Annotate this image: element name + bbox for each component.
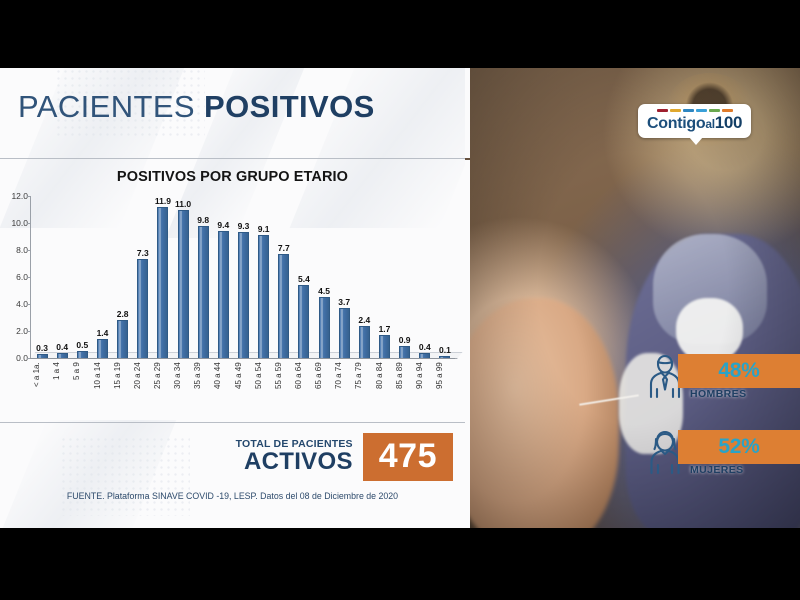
chart-x-tick-label: 5 a 9 bbox=[72, 362, 92, 412]
chart-y-tick-label: 12.0 bbox=[11, 191, 28, 201]
chart-bar-group: 0.1 bbox=[435, 196, 455, 358]
chart-x-tick-label: 70 a 74 bbox=[334, 362, 354, 412]
logo-dash-3 bbox=[696, 109, 707, 112]
chart-bar-group: 4.5 bbox=[314, 196, 334, 358]
chart-bar bbox=[137, 259, 148, 358]
chart-bar-value-label: 7.3 bbox=[137, 248, 149, 258]
chart-x-tick-label: 30 a 34 bbox=[173, 362, 193, 412]
chart-bar-group: 0.4 bbox=[52, 196, 72, 358]
chart-y-tick-mark bbox=[27, 277, 30, 278]
logo-text: Contigoal100 bbox=[647, 114, 742, 132]
chart-x-tick-label: 35 a 39 bbox=[193, 362, 213, 412]
chart-bar-group: 9.8 bbox=[193, 196, 213, 358]
chart-bar-group: 3.7 bbox=[334, 196, 354, 358]
chart-x-tick-label: 80 a 84 bbox=[375, 362, 395, 412]
chart-bar-value-label: 9.1 bbox=[258, 224, 270, 234]
logo-dash-4 bbox=[709, 109, 720, 112]
stat-bar-mujeres: 52% bbox=[678, 430, 800, 464]
chart-bar-group: 0.5 bbox=[72, 196, 92, 358]
chart-bar-group: 0.3 bbox=[32, 196, 52, 358]
chart-x-tick-label: 50 a 54 bbox=[254, 362, 274, 412]
chart-bar-value-label: 0.9 bbox=[399, 335, 411, 345]
chart-bar bbox=[379, 335, 390, 358]
total-activos-label-line2: ACTIVOS bbox=[236, 450, 353, 474]
slide-content: PACIENTES POSITIVOS POSITIVOS POR GRUPO … bbox=[0, 68, 800, 528]
panel-edge bbox=[465, 68, 470, 158]
stat-row-hombres: 48% HOMBRES bbox=[648, 354, 800, 402]
chart-y-tick-mark bbox=[27, 223, 30, 224]
chart-bar bbox=[198, 226, 209, 358]
chart-title: POSITIVOS POR GRUPO ETARIO bbox=[0, 169, 465, 185]
chart-bar bbox=[117, 320, 128, 358]
chart-bar-value-label: 0.3 bbox=[36, 343, 48, 353]
chart-bars: 0.30.40.51.42.87.311.911.09.89.49.39.17.… bbox=[32, 196, 455, 358]
chart-y-tick-mark bbox=[27, 196, 30, 197]
chart-bar-group: 11.0 bbox=[173, 196, 193, 358]
chart-x-axis bbox=[30, 358, 455, 359]
contigo-al-100-logo: Contigoal100 bbox=[638, 104, 751, 138]
chart-x-tick-label: 95 a 99 bbox=[435, 362, 455, 412]
chart-bar-value-label: 5.4 bbox=[298, 274, 310, 284]
chart-bar-group: 11.9 bbox=[153, 196, 173, 358]
chart-bar-group: 7.3 bbox=[133, 196, 153, 358]
page-title-bold: POSITIVOS bbox=[204, 89, 375, 124]
chart-bar bbox=[178, 210, 189, 359]
chart-bar-value-label: 3.7 bbox=[338, 297, 350, 307]
chart-bar bbox=[399, 346, 410, 358]
chart-bar bbox=[37, 354, 48, 358]
chart-bar-value-label: 4.5 bbox=[318, 286, 330, 296]
chart-bar-group: 9.3 bbox=[234, 196, 254, 358]
chart-bar bbox=[238, 232, 249, 358]
chart-bar-value-label: 0.4 bbox=[56, 342, 68, 352]
stat-caption-mujeres: MUJERES bbox=[690, 464, 744, 476]
chart-bar-value-label: 0.1 bbox=[439, 345, 451, 355]
chart-bar bbox=[319, 297, 330, 358]
chart-bar-value-label: 0.5 bbox=[76, 340, 88, 350]
chart-y-axis bbox=[30, 196, 31, 358]
chart-x-tick-label: 45 a 49 bbox=[234, 362, 254, 412]
panel-edge bbox=[465, 160, 470, 528]
chart-bar-group: 5.4 bbox=[294, 196, 314, 358]
chart-bar bbox=[97, 339, 108, 358]
chart-bar bbox=[339, 308, 350, 358]
chart-bar-value-label: 0.4 bbox=[419, 342, 431, 352]
source-note: FUENTE. Plataforma SINAVE COVID -19, LES… bbox=[0, 491, 465, 501]
chart-bar-group: 1.7 bbox=[375, 196, 395, 358]
stat-row-mujeres: 52% MUJERES bbox=[648, 430, 800, 478]
chart-x-tick-label: 65 a 69 bbox=[314, 362, 334, 412]
chart-bar-value-label: 1.4 bbox=[97, 328, 109, 338]
chart-x-tick-label: 75 a 79 bbox=[354, 362, 374, 412]
chart-x-tick-label: 90 a 94 bbox=[415, 362, 435, 412]
chart-bar-value-label: 2.8 bbox=[117, 309, 129, 319]
chart-bar-group: 2.8 bbox=[113, 196, 133, 358]
chart-x-tick-label: 60 a 64 bbox=[294, 362, 314, 412]
logo-text-contigo: Contigo bbox=[647, 115, 705, 132]
chart-bar bbox=[77, 351, 88, 358]
chart-x-tick-label: 20 a 24 bbox=[133, 362, 153, 412]
chart-bar-group: 2.4 bbox=[354, 196, 374, 358]
chart-bar-value-label: 11.9 bbox=[155, 196, 171, 206]
stat-percent-mujeres: 52% bbox=[718, 435, 759, 459]
stat-caption-hombres: HOMBRES bbox=[690, 388, 746, 400]
chart-bar bbox=[57, 353, 68, 358]
total-activos-block: TOTAL DE PACIENTES ACTIVOS 475 bbox=[0, 428, 465, 486]
chart-bar bbox=[359, 326, 370, 358]
chart-x-tick-label: 40 a 44 bbox=[213, 362, 233, 412]
chart-bar bbox=[157, 207, 168, 358]
chart-bar-group: 7.7 bbox=[274, 196, 294, 358]
chart-bar bbox=[298, 285, 309, 358]
slide-right-panel: Contigoal100 bbox=[465, 68, 800, 528]
chart-x-tick-label: < a 1a. bbox=[32, 362, 52, 412]
divider-bottom bbox=[0, 422, 465, 423]
chart-bar-value-label: 9.8 bbox=[197, 215, 209, 225]
chart-bar-value-label: 9.3 bbox=[238, 221, 250, 231]
logo-color-dashes bbox=[647, 109, 742, 112]
chart-bar-group: 9.4 bbox=[213, 196, 233, 358]
stat-percent-hombres: 48% bbox=[718, 359, 759, 383]
logo-dash-1 bbox=[670, 109, 681, 112]
logo-dash-2 bbox=[683, 109, 694, 112]
chart-bar-group: 0.9 bbox=[395, 196, 415, 358]
chart-bar-value-label: 9.4 bbox=[217, 220, 229, 230]
chart-y-tick-mark bbox=[27, 358, 30, 359]
slide-header: PACIENTES POSITIVOS bbox=[0, 68, 465, 158]
page-title: PACIENTES POSITIVOS bbox=[18, 89, 375, 125]
chart-bar-group: 9.1 bbox=[254, 196, 274, 358]
page-title-light: PACIENTES bbox=[18, 89, 204, 124]
chart-bar-value-label: 11.0 bbox=[175, 199, 191, 209]
total-activos-label: TOTAL DE PACIENTES ACTIVOS bbox=[236, 439, 353, 474]
chart-y-tick-mark bbox=[27, 331, 30, 332]
chart-x-tick-label: 1 a 4 bbox=[52, 362, 72, 412]
chart-x-tick-label: 25 a 29 bbox=[153, 362, 173, 412]
chart-bar bbox=[278, 254, 289, 358]
slide-left-panel: PACIENTES POSITIVOS POSITIVOS POR GRUPO … bbox=[0, 68, 465, 528]
logo-text-al: al bbox=[705, 117, 714, 131]
divider-top bbox=[0, 158, 465, 159]
chart-x-tick-label: 85 a 89 bbox=[395, 362, 415, 412]
stat-bar-hombres: 48% bbox=[678, 354, 800, 388]
chart-bar bbox=[439, 356, 450, 358]
chart-x-tick-label: 15 a 19 bbox=[113, 362, 133, 412]
chart-bar-value-label: 7.7 bbox=[278, 243, 290, 253]
logo-dash-5 bbox=[722, 109, 733, 112]
chart-x-tick-labels: < a 1a.1 a 45 a 910 a 1415 a 1920 a 2425… bbox=[32, 362, 455, 414]
chart-bar bbox=[258, 235, 269, 358]
chart-bar-group: 0.4 bbox=[415, 196, 435, 358]
chart-bar-value-label: 1.7 bbox=[379, 324, 391, 334]
chart-y-tick-mark bbox=[27, 304, 30, 305]
chart-bar-group: 1.4 bbox=[93, 196, 113, 358]
logo-dash-0 bbox=[657, 109, 668, 112]
chart-bar-value-label: 2.4 bbox=[358, 315, 370, 325]
chart-x-tick-label: 55 a 59 bbox=[274, 362, 294, 412]
chart-x-tick-label: 10 a 14 bbox=[93, 362, 113, 412]
logo-text-100: 100 bbox=[715, 113, 742, 132]
chart-positivos-por-grupo-etario: POSITIVOS POR GRUPO ETARIO 0.02.04.06.08… bbox=[0, 160, 465, 422]
chart-y-tick-label: 10.0 bbox=[11, 218, 28, 228]
screenshot-stage: PACIENTES POSITIVOS POSITIVOS POR GRUPO … bbox=[0, 0, 800, 600]
chart-bar bbox=[218, 231, 229, 358]
chart-y-tick-mark bbox=[27, 250, 30, 251]
total-activos-value: 475 bbox=[363, 433, 453, 481]
chart-bar bbox=[419, 353, 430, 358]
